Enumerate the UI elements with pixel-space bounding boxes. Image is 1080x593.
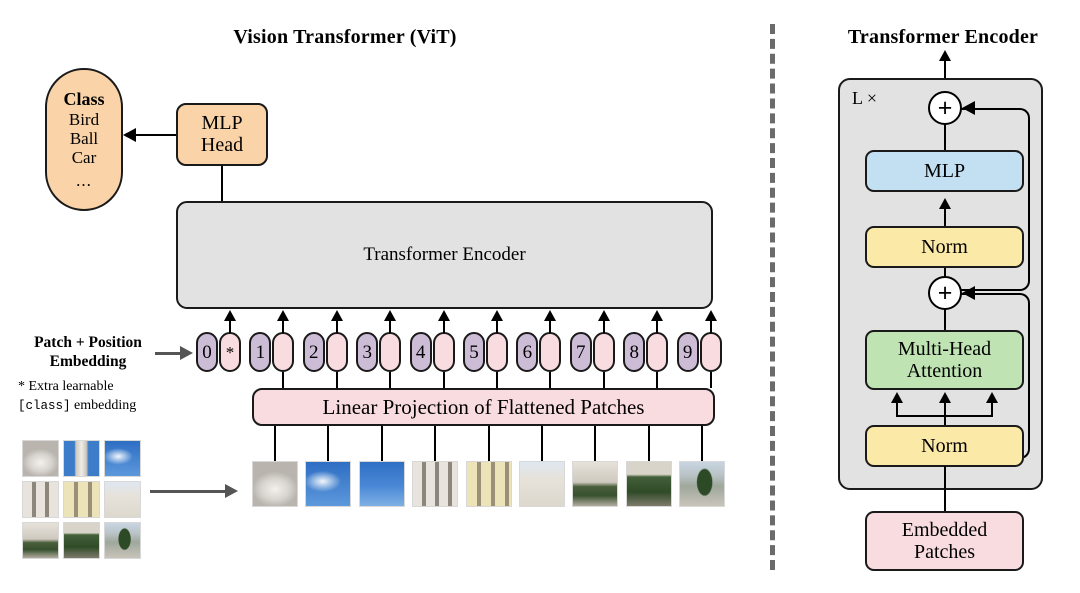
patch-to-linproj-line-5 (488, 426, 490, 461)
token-to-encoder-line-6 (549, 320, 551, 333)
encoder-attention-label-line2: Attention (907, 360, 983, 382)
token-to-encoder-line-5 (496, 320, 498, 333)
source-image-patch-6 (104, 481, 141, 518)
patch-to-linproj-line-6 (541, 426, 543, 461)
token-to-encoder-arrowhead-8 (651, 310, 663, 321)
encoder-output-arrowhead (939, 50, 951, 61)
mlp-to-add-top-line (944, 124, 946, 151)
token-to-encoder-line-1 (282, 320, 284, 333)
patch-to-linproj-line-1 (274, 426, 276, 461)
repeat-count-label: L × (852, 88, 877, 109)
class-item-car: Car (72, 148, 97, 167)
patch-embedding-2 (326, 332, 348, 372)
class-item-ball: Ball (70, 129, 98, 148)
linproj-to-token-line-4 (443, 372, 445, 388)
patch-embedding-5 (486, 332, 508, 372)
source-image-patch-5 (63, 481, 100, 518)
encoder-norm-bottom-box: Norm (865, 425, 1024, 467)
class-heading: Class (63, 89, 104, 109)
right-panel-title: Transformer Encoder (808, 26, 1078, 49)
extra-note-line2-rest: embedding (71, 398, 137, 413)
token-7: 7 (570, 332, 615, 372)
patch-embedding-8 (646, 332, 668, 372)
class-token-code: [class] (18, 399, 71, 413)
token-to-encoder-arrowhead-7 (598, 310, 610, 321)
normtop-to-mlp-arrowhead (939, 198, 951, 209)
linear-projection-box: Linear Projection of Flattened Patches (252, 388, 715, 426)
patch-embedding-6 (539, 332, 561, 372)
qkv-branch-right (991, 403, 993, 417)
patch-embedding-1 (272, 332, 294, 372)
transformer-encoder-label: Transformer Encoder (363, 245, 525, 266)
embedded-patches-label-line1: Embedded (902, 519, 988, 541)
residual-bottom-arrowhead (962, 286, 975, 300)
token-to-encoder-line-2 (336, 320, 338, 333)
token-to-encoder-line-9 (710, 320, 712, 333)
source-image-patch-7 (22, 522, 59, 559)
encoder-mlp-label: MLP (924, 160, 965, 182)
flattened-patch-2 (305, 461, 351, 507)
mlphead-to-encoder-line (221, 166, 223, 202)
token-to-encoder-arrowhead-2 (331, 310, 343, 321)
image-to-patches-arrowhead (225, 484, 238, 498)
embedded-patches-label-line2: Patches (914, 541, 975, 563)
flattened-patch-1 (252, 461, 298, 507)
linproj-to-token-line-5 (496, 372, 498, 388)
panel-divider (770, 24, 775, 570)
position-embedding-6: 6 (516, 332, 538, 372)
linear-projection-label: Linear Projection of Flattened Patches (323, 396, 645, 419)
token-to-encoder-line-4 (443, 320, 445, 333)
token-to-encoder-arrowhead-9 (705, 310, 717, 321)
token-to-encoder-arrowhead-0 (224, 310, 236, 321)
extra-learnable-note: * Extra learnable [class] embedding (18, 378, 188, 416)
flattened-patch-5 (466, 461, 512, 507)
linproj-to-token-line-2 (336, 372, 338, 388)
transformer-encoder-box: Transformer Encoder (176, 201, 713, 309)
mlp-head-box: MLP Head (176, 103, 268, 166)
position-embedding-3: 3 (356, 332, 378, 372)
source-image-patch-8 (63, 522, 100, 559)
qkv-branch-mid (944, 403, 946, 425)
class-item-bird: Bird (69, 110, 99, 129)
patch-embedding-9 (700, 332, 722, 372)
token-to-encoder-line-3 (389, 320, 391, 333)
token-to-encoder-arrowhead-5 (491, 310, 503, 321)
patch-position-label-line2: Embedding (8, 353, 168, 372)
position-embedding-1: 1 (249, 332, 271, 372)
position-embedding-5: 5 (463, 332, 485, 372)
patchpos-arrowhead (180, 346, 193, 360)
patch-to-linproj-line-8 (648, 426, 650, 461)
vit-architecture-diagram: Vision Transformer (ViT) Class Bird Ball… (0, 0, 1080, 593)
token-to-encoder-arrowhead-6 (544, 310, 556, 321)
embedded-to-norm-line (944, 466, 946, 512)
patch-to-linproj-line-7 (594, 426, 596, 461)
linproj-to-token-line-8 (656, 372, 658, 388)
token-4: 4 (410, 332, 455, 372)
token-to-encoder-arrowhead-1 (277, 310, 289, 321)
encoder-attention-box: Multi-Head Attention (865, 330, 1024, 390)
flattened-patch-4 (412, 461, 458, 507)
mlp-head-label-line2: Head (201, 135, 243, 157)
flattened-patch-6 (519, 461, 565, 507)
normtop-to-mlp-line (944, 207, 946, 227)
qkv-arrowhead-right (986, 392, 998, 403)
source-image-patch-1 (22, 440, 59, 477)
linproj-to-token-line-6 (549, 372, 551, 388)
patch-to-linproj-line-3 (381, 426, 383, 461)
class-ellipsis: ... (76, 171, 92, 190)
linproj-to-token-line-7 (603, 372, 605, 388)
token-1: 1 (249, 332, 294, 372)
patch-position-embedding-label: Patch + Position Embedding (8, 334, 168, 371)
token-to-encoder-line-7 (603, 320, 605, 333)
extra-note-line1: * Extra learnable (18, 378, 188, 397)
mlphead-to-class-arrowhead (123, 128, 136, 142)
class-token-embedding: * (219, 332, 241, 372)
linproj-to-token-line-9 (710, 372, 712, 388)
encoder-mlp-box: MLP (865, 150, 1024, 192)
plus-symbol-bottom: + (938, 281, 953, 306)
position-embedding-7: 7 (570, 332, 592, 372)
patchpos-arrow-line (155, 352, 181, 355)
token-0: 0* (196, 332, 241, 372)
position-embedding-4: 4 (410, 332, 432, 372)
patch-embedding-7 (593, 332, 615, 372)
linproj-to-token-line-3 (389, 372, 391, 388)
position-embedding-8: 8 (623, 332, 645, 372)
source-image-patch-9 (104, 522, 141, 559)
source-image-patch-4 (22, 481, 59, 518)
encoder-attention-label-line1: Multi-Head (898, 338, 991, 360)
token-9: 9 (677, 332, 722, 372)
left-panel-title: Vision Transformer (ViT) (165, 26, 525, 49)
source-image-patch-2 (63, 440, 100, 477)
qkv-arrowhead-left (891, 392, 903, 403)
patch-position-label-line1: Patch + Position (8, 334, 168, 353)
attention-to-add-line (944, 309, 946, 331)
flattened-patch-8 (626, 461, 672, 507)
encoder-norm-bottom-label: Norm (921, 435, 968, 457)
qkv-arrowhead-mid (939, 392, 951, 403)
linproj-to-token-line-1 (282, 372, 284, 388)
embedded-patches-box: Embedded Patches (865, 511, 1024, 571)
flattened-patch-3 (359, 461, 405, 507)
position-embedding-9: 9 (677, 332, 699, 372)
token-to-encoder-arrowhead-3 (384, 310, 396, 321)
position-embedding-0: 0 (196, 332, 218, 372)
token-8: 8 (623, 332, 668, 372)
token-2: 2 (303, 332, 348, 372)
source-image-patch-3 (104, 440, 141, 477)
position-embedding-2: 2 (303, 332, 325, 372)
token-to-encoder-arrowhead-4 (438, 310, 450, 321)
residual-top-arrowhead (962, 101, 975, 115)
token-6: 6 (516, 332, 561, 372)
plus-symbol-top: + (938, 96, 953, 121)
qkv-branch-left (896, 403, 898, 417)
patch-embedding-3 (379, 332, 401, 372)
source-image-grid (22, 440, 141, 559)
class-output-pill: Class Bird Ball Car ... (45, 68, 123, 211)
encoder-norm-top-label: Norm (921, 236, 968, 258)
token-to-encoder-line-8 (656, 320, 658, 333)
image-to-patches-arrow-line (150, 490, 226, 493)
mlphead-to-class-line (135, 134, 177, 136)
token-5: 5 (463, 332, 508, 372)
token-3: 3 (356, 332, 401, 372)
patch-to-linproj-line-9 (701, 426, 703, 461)
encoder-norm-top-box: Norm (865, 226, 1024, 268)
flattened-patch-9 (679, 461, 725, 507)
token-to-encoder-line-0 (229, 320, 231, 333)
patch-to-linproj-line-4 (434, 426, 436, 461)
patch-embedding-4 (433, 332, 455, 372)
residual-add-top: + (928, 91, 962, 125)
flattened-patch-7 (572, 461, 618, 507)
mlp-head-label-line1: MLP (201, 113, 242, 135)
patch-to-linproj-line-2 (327, 426, 329, 461)
residual-add-bottom: + (928, 276, 962, 310)
